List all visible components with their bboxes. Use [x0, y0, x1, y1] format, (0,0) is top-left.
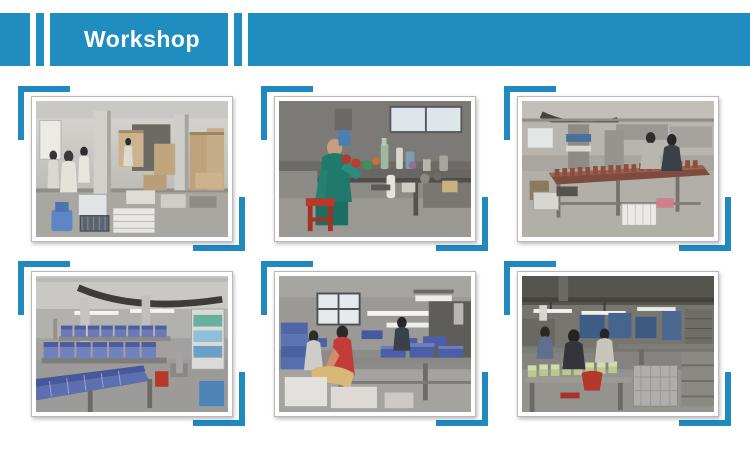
gallery-item[interactable]: [504, 86, 731, 251]
workshop-photo: [36, 101, 228, 237]
workshop-photo: [522, 101, 714, 237]
header-divider-2: [44, 13, 50, 66]
page-title: Workshop: [56, 13, 228, 66]
photo-frame: [31, 271, 233, 417]
photo-frame: [517, 271, 719, 417]
header-divider-3: [228, 13, 234, 66]
photo-frame: [274, 271, 476, 417]
workshop-photo-gallery: [0, 78, 750, 448]
gallery-item[interactable]: [261, 261, 488, 426]
workshop-gallery-page: Workshop: [0, 0, 750, 467]
photo-frame: [31, 96, 233, 242]
page-header-bar: Workshop: [0, 13, 750, 66]
workshop-photo: [279, 101, 471, 237]
gallery-item[interactable]: [261, 86, 488, 251]
workshop-photo: [522, 276, 714, 412]
header-divider-1: [30, 13, 36, 66]
header-divider-4: [242, 13, 248, 66]
photo-frame: [517, 96, 719, 242]
gallery-item[interactable]: [18, 261, 245, 426]
workshop-photo: [36, 276, 228, 412]
workshop-photo: [279, 276, 471, 412]
photo-frame: [274, 96, 476, 242]
gallery-item[interactable]: [504, 261, 731, 426]
gallery-item[interactable]: [18, 86, 245, 251]
